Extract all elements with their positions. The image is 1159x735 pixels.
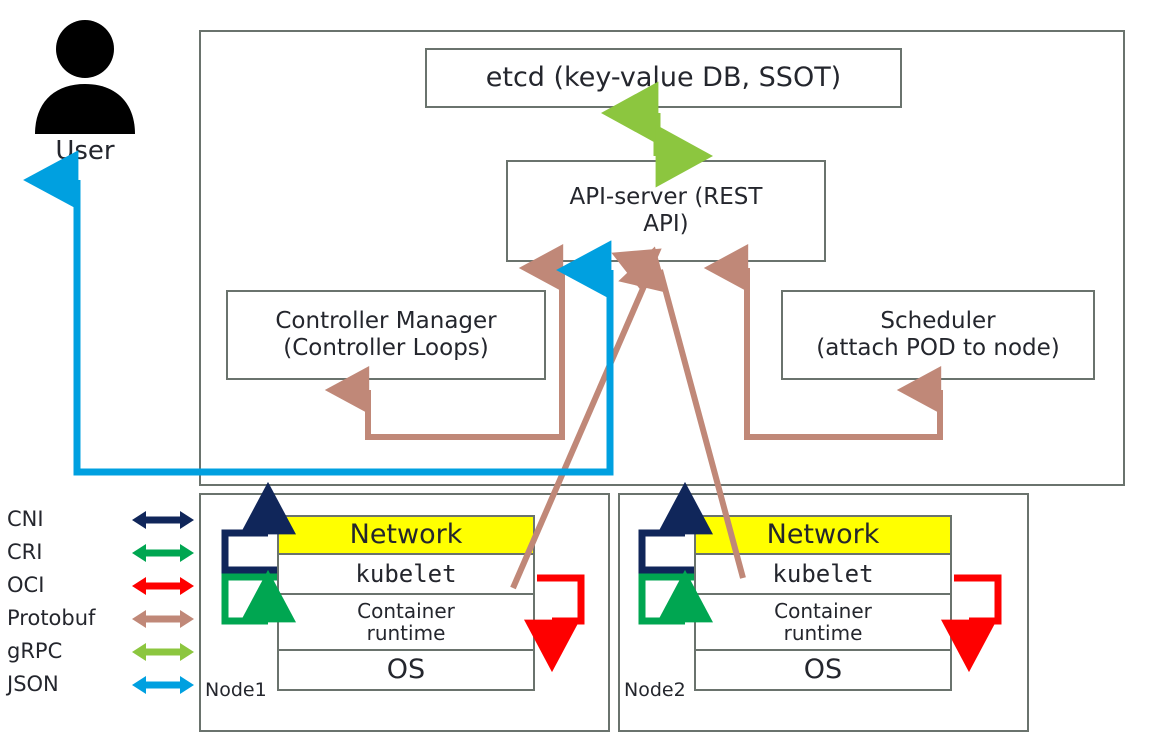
controller-manager-label-line1: Controller Manager: [275, 308, 496, 334]
legend-arrow-protobuf-icon: [132, 606, 194, 632]
api-server-label: API-server (REST API): [570, 184, 763, 238]
node1-kubelet-label: kubelet: [355, 561, 456, 588]
node2-os-label: OS: [804, 655, 842, 685]
legend-arrow-grpc-icon: [132, 639, 194, 665]
node2-runtime-line2: runtime: [784, 621, 863, 645]
node2-kubelet-layer[interactable]: kubelet: [694, 555, 952, 595]
node2-label: Node2: [624, 679, 686, 701]
legend-arrow-cri-icon: [132, 540, 194, 566]
diagram-canvas: User etcd (key-value DB, SSOT) API-serve…: [0, 0, 1159, 735]
scheduler-label: Scheduler (attach POD to node): [816, 308, 1060, 362]
node2-network-label: Network: [767, 520, 880, 550]
api-server-label-line1: API-server (REST: [570, 184, 763, 210]
node1-runtime-line1: Container: [357, 599, 455, 623]
user-label: User: [31, 136, 139, 166]
node1-label: Node1: [205, 679, 267, 701]
node2-kubelet-label: kubelet: [772, 561, 873, 588]
controller-manager-label: Controller Manager (Controller Loops): [275, 308, 496, 362]
node2-stack: Network kubelet Container runtime OS: [694, 515, 952, 691]
node2-container-runtime-layer[interactable]: Container runtime: [694, 595, 952, 651]
node1-container-runtime-layer[interactable]: Container runtime: [277, 595, 535, 651]
legend-label-cri: CRI: [7, 538, 42, 566]
node1-kubelet-layer[interactable]: kubelet: [277, 555, 535, 595]
etcd-box[interactable]: etcd (key-value DB, SSOT): [425, 48, 902, 108]
node1-network-label: Network: [350, 520, 463, 550]
controller-manager-label-line2: (Controller Loops): [283, 335, 489, 361]
protocol-legend: CNI CRI OCI Protobuf gRPC: [4, 505, 194, 703]
legend-arrow-oci-icon: [132, 573, 194, 599]
node2-os-layer[interactable]: OS: [694, 651, 952, 691]
node1-container-runtime-label: Container runtime: [357, 600, 455, 645]
node2-container-runtime-label: Container runtime: [774, 600, 872, 645]
node1-runtime-line2: runtime: [367, 621, 446, 645]
node1-os-layer[interactable]: OS: [277, 651, 535, 691]
node2-network-layer[interactable]: Network: [694, 515, 952, 555]
etcd-label: etcd (key-value DB, SSOT): [486, 62, 841, 94]
legend-item-oci: OCI: [4, 571, 194, 604]
legend-item-protobuf: Protobuf: [4, 604, 194, 637]
legend-label-json: JSON: [7, 670, 59, 698]
legend-item-json: JSON: [4, 670, 194, 703]
legend-label-protobuf: Protobuf: [7, 604, 95, 632]
legend-label-cni: CNI: [7, 505, 44, 533]
scheduler-label-line1: Scheduler: [880, 308, 995, 334]
legend-item-cri: CRI: [4, 538, 194, 571]
api-server-label-line2: API): [643, 211, 688, 237]
controller-manager-box[interactable]: Controller Manager (Controller Loops): [226, 290, 546, 380]
node1-network-layer[interactable]: Network: [277, 515, 535, 555]
legend-arrow-cni-icon: [132, 507, 194, 533]
legend-item-grpc: gRPC: [4, 637, 194, 670]
legend-item-cni: CNI: [4, 505, 194, 538]
legend-arrow-json-icon: [132, 672, 194, 698]
node2-runtime-line1: Container: [774, 599, 872, 623]
api-server-box[interactable]: API-server (REST API): [506, 160, 826, 262]
legend-label-grpc: gRPC: [7, 637, 62, 665]
scheduler-label-line2: (attach POD to node): [816, 335, 1060, 361]
user-person-icon: [31, 18, 139, 134]
legend-label-oci: OCI: [7, 571, 44, 599]
node1-os-label: OS: [387, 655, 425, 685]
node1-stack: Network kubelet Container runtime OS: [277, 515, 535, 691]
scheduler-box[interactable]: Scheduler (attach POD to node): [781, 290, 1095, 380]
